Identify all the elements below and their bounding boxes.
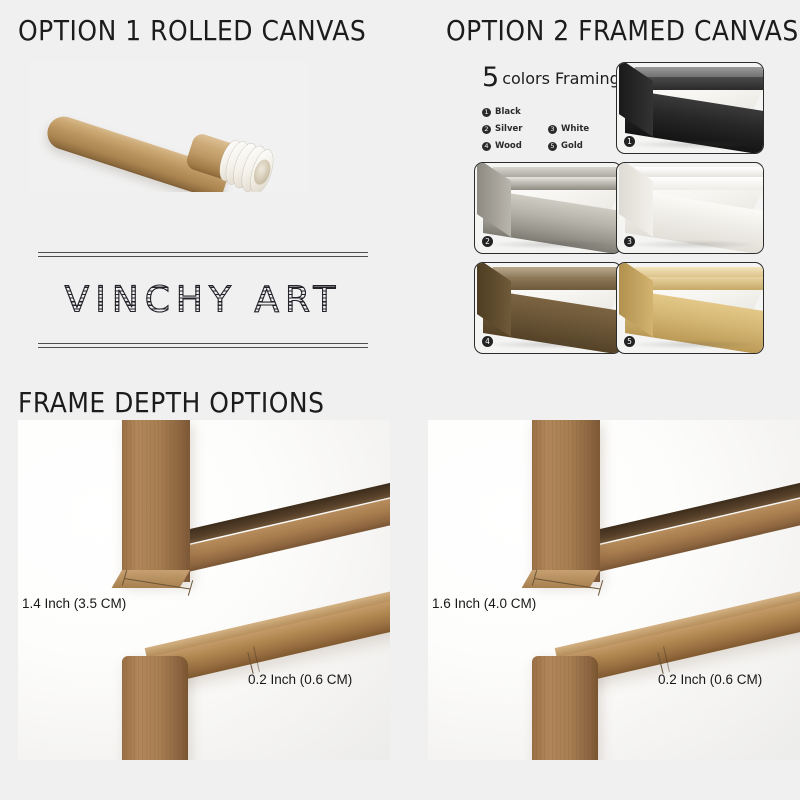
frame-swatch-gold[interactable]: 5 — [616, 262, 764, 354]
legend-number-badge: 5 — [548, 142, 557, 151]
logo-rule-top — [38, 252, 368, 257]
legend-count: 5 — [482, 62, 499, 93]
frame-depth-photo-right — [428, 420, 800, 760]
rolled-canvas-photo — [30, 62, 310, 192]
option1-heading: OPTION 1 ROLLED CANVAS — [18, 14, 366, 46]
legend-row: 2 Silver 3 White — [482, 124, 608, 134]
mailing-tube-illustration — [44, 78, 294, 174]
swatch-number-badge: 5 — [624, 336, 635, 347]
frame-depth-label-left: 0.2 Inch (0.6 CM) — [248, 672, 352, 687]
frame-corner-illustration — [617, 63, 763, 153]
frame-width-label-left: 1.4 Inch (3.5 CM) — [22, 596, 126, 611]
legend-title: 5colors Framing — [482, 64, 608, 91]
frame-corner-block — [532, 656, 598, 760]
infographic-canvas: OPTION 1 ROLLED CANVAS VINCHY ART OPTION… — [0, 0, 800, 800]
frame-corner-block — [122, 656, 188, 760]
legend-item-label: Silver — [495, 124, 522, 134]
framing-color-legend: 5colors Framing 1 Black 2 Silver 3 White — [482, 64, 608, 151]
frame-vertical-stile — [122, 420, 190, 582]
legend-number-badge: 3 — [548, 125, 557, 134]
photo-background-wall — [428, 420, 800, 760]
legend-item-label: Black — [495, 107, 521, 117]
legend-item-label: White — [561, 124, 589, 134]
frame-depth-photo-left — [18, 420, 390, 760]
frame-swatch-white[interactable]: 3 — [616, 162, 764, 254]
frame-corner-illustration — [475, 163, 621, 253]
legend-title-text: colors Framing — [502, 69, 620, 88]
swatch-number-badge: 3 — [624, 236, 635, 247]
legend-number-badge: 4 — [482, 142, 491, 151]
frame-swatch-black[interactable]: 1 — [616, 62, 764, 154]
option2-heading: OPTION 2 FRAMED CANVAS — [446, 14, 799, 46]
legend-item-black: 1 Black — [482, 107, 534, 117]
frame-vertical-stile — [532, 420, 600, 582]
frame-width-label-right: 1.6 Inch (4.0 CM) — [432, 596, 536, 611]
legend-item-label: Gold — [561, 141, 583, 151]
swatch-number-badge: 1 — [624, 136, 635, 147]
swatch-number-badge: 4 — [482, 336, 493, 347]
legend-item-wood: 4 Wood — [482, 141, 534, 151]
frame-swatch-wood[interactable]: 4 — [474, 262, 622, 354]
frame-corner-illustration — [617, 163, 763, 253]
legend-row: 1 Black — [482, 107, 608, 117]
legend-number-badge: 2 — [482, 125, 491, 134]
legend-row: 4 Wood 5 Gold — [482, 141, 608, 151]
legend-item-white: 3 White — [548, 124, 600, 134]
frame-corner-illustration — [475, 263, 621, 353]
logo-rule-bottom — [38, 343, 368, 348]
legend-item-label: Wood — [495, 141, 522, 151]
brand-logo: VINCHY ART — [38, 252, 368, 348]
frame-corner-illustration — [617, 263, 763, 353]
photo-background-wall — [18, 420, 390, 760]
frame-swatch-silver[interactable]: 2 — [474, 162, 622, 254]
legend-item-silver: 2 Silver — [482, 124, 534, 134]
frame-depth-heading: FRAME DEPTH OPTIONS — [18, 386, 324, 418]
swatch-number-badge: 2 — [482, 236, 493, 247]
legend-number-badge: 1 — [482, 108, 491, 117]
brand-logo-text: VINCHY ART — [38, 280, 368, 321]
legend-item-gold: 5 Gold — [548, 141, 600, 151]
frame-depth-label-right: 0.2 Inch (0.6 CM) — [658, 672, 762, 687]
